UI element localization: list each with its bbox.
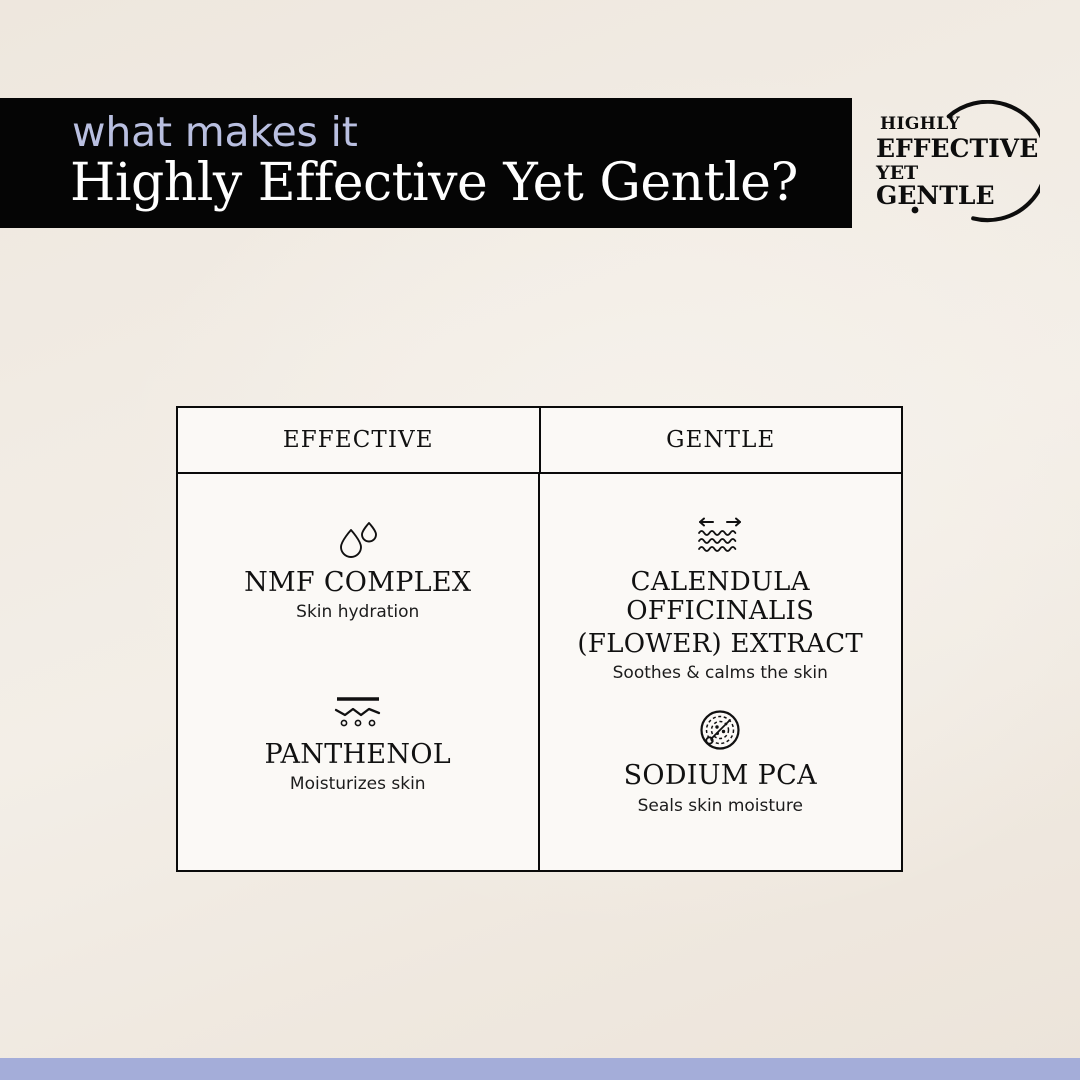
ingredient-nmf-complex: NMF COMPLEX Skin hydration xyxy=(178,516,538,622)
badge-line-3: YET GENTLE xyxy=(876,164,1024,208)
soothing-waves-arrows-icon xyxy=(540,516,902,558)
poster-canvas: what makes it Highly Effective Yet Gentl… xyxy=(0,0,1080,1080)
water-droplets-icon xyxy=(178,516,538,558)
table-header-row: EFFECTIVE GENTLE xyxy=(178,408,901,474)
skin-barrier-wave-icon xyxy=(178,688,538,730)
ingredient-desc: Moisturizes skin xyxy=(178,774,538,794)
badge-line-3-big: GENTLE xyxy=(876,181,995,210)
column-header-gentle: GENTLE xyxy=(541,408,902,472)
badge-line-1: HIGHLY xyxy=(876,116,1024,133)
ingredient-name: PANTHENOL xyxy=(178,740,538,770)
page-title: Highly Effective Yet Gentle? xyxy=(70,155,852,211)
column-header-effective: EFFECTIVE xyxy=(178,408,541,472)
ingredient-name: SODIUM PCA xyxy=(540,761,902,791)
ingredient-name-line-2: (FLOWER) EXTRACT xyxy=(540,630,902,659)
ingredient-desc: Skin hydration xyxy=(178,602,538,622)
ingredient-desc: Seals skin moisture xyxy=(540,796,902,816)
column-gentle: CALENDULA OFFICINALIS (FLOWER) EXTRACT S… xyxy=(540,474,902,870)
column-effective: NMF COMPLEX Skin hydration PANTHENOL xyxy=(178,474,540,870)
comparison-table: EFFECTIVE GENTLE NMF COMPLEX Skin hydrat… xyxy=(176,406,903,872)
ingredient-calendula-extract: CALENDULA OFFICINALIS (FLOWER) EXTRACT S… xyxy=(540,516,902,683)
badge-line-2: EFFECTIVE xyxy=(876,136,1024,161)
header-kicker: what makes it xyxy=(72,112,852,153)
brand-badge: HIGHLY EFFECTIVE YET GENTLE xyxy=(868,100,1040,232)
header-band: what makes it Highly Effective Yet Gentl… xyxy=(0,98,852,228)
moisture-seal-icon xyxy=(540,709,902,751)
ingredient-panthenol: PANTHENOL Moisturizes skin xyxy=(178,688,538,794)
ingredient-sodium-pca: SODIUM PCA Seals skin moisture xyxy=(540,709,902,815)
bottom-accent-bar xyxy=(0,1058,1080,1080)
table-body: NMF COMPLEX Skin hydration PANTHENOL xyxy=(178,474,901,870)
ingredient-name: NMF COMPLEX xyxy=(178,568,538,598)
badge-text-block: HIGHLY EFFECTIVE YET GENTLE xyxy=(876,116,1024,208)
ingredient-name-line-1: CALENDULA OFFICINALIS xyxy=(540,568,902,626)
ingredient-desc: Soothes & calms the skin xyxy=(540,663,902,683)
